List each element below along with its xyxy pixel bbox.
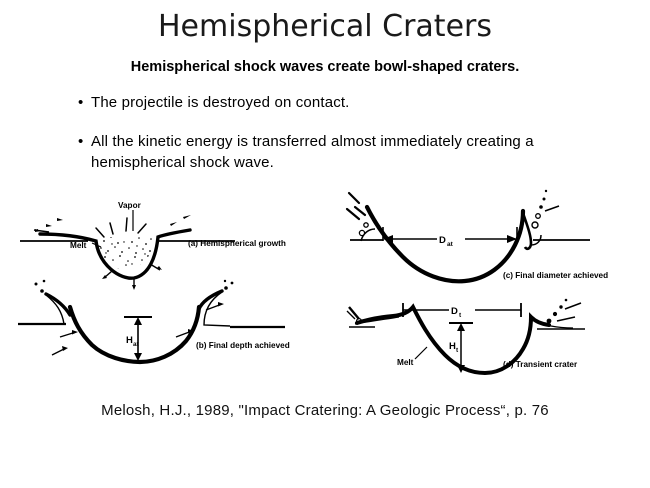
slide-subtitle: Hemispherical shock waves create bowl-sh… [0,59,650,75]
bullet-item-1: • The projectile is destroyed on contact… [78,92,598,113]
melt-leader-line [415,347,427,359]
dimension-subscript: at [447,241,454,248]
depth-arrowhead-up [457,323,465,331]
label-D-at: D at [439,235,454,248]
dimension-base: D [439,235,446,246]
figure-svg: Vapor Melt (a) Hemispherical growth [0,185,650,390]
panel-a-caption: (a) Hemispherical growth [188,239,286,248]
dimension-base: H [126,335,133,346]
dimension-base: D [451,306,458,317]
label-D-t: D t [451,306,462,319]
bullet-text: The projectile is destroyed on contact. [91,92,598,113]
panel-d: D t H t Melt (d) Transient crater [347,299,585,373]
source-citation: Melosh, H.J., 1989, "Impact Cratering: A… [0,402,650,419]
vapor-jets [96,218,146,237]
panel-c-caption: (c) Final diameter achieved [503,271,608,280]
panel-c: D at (c) Final diameter achieved [347,190,608,281]
dimension-subscript: at [133,341,140,348]
label-melt: Melt [70,241,87,250]
label-H-t: H t [449,341,459,354]
crater-formation-figure: Vapor Melt (a) Hemispherical growth [0,185,650,390]
panel-b: H at (b) Final depth achieved [18,280,290,362]
ejecta-plume-left [347,193,365,219]
panel-d-caption: (d) Transient crater [503,360,578,369]
bullet-marker-icon: • [78,92,91,113]
ejecta-fragments [35,215,191,232]
ejecta-right [547,299,581,324]
bullet-text: All the kinetic energy is transferred al… [91,131,598,173]
ejecta-column-right [523,213,531,249]
label-melt: Melt [397,358,414,367]
panel-b-caption: (b) Final depth achieved [196,341,290,350]
dimension-subscript: t [459,312,462,319]
panel-a: Vapor Melt (a) Hemispherical growth [20,201,286,290]
label-vapor: Vapor [118,201,142,210]
dimension-subscript: t [456,347,459,354]
depth-arrowhead-up [134,317,142,325]
dimension-base: H [449,341,456,352]
ejecta-trajectory-right [545,206,559,211]
bullet-list: • The projectile is destroyed on contact… [78,92,598,191]
ejecta-particles-right [532,190,547,228]
bullet-marker-icon: • [78,131,91,152]
bullet-item-2: • All the kinetic energy is transferred … [78,131,598,173]
page-title: Hemispherical Craters [0,10,650,44]
